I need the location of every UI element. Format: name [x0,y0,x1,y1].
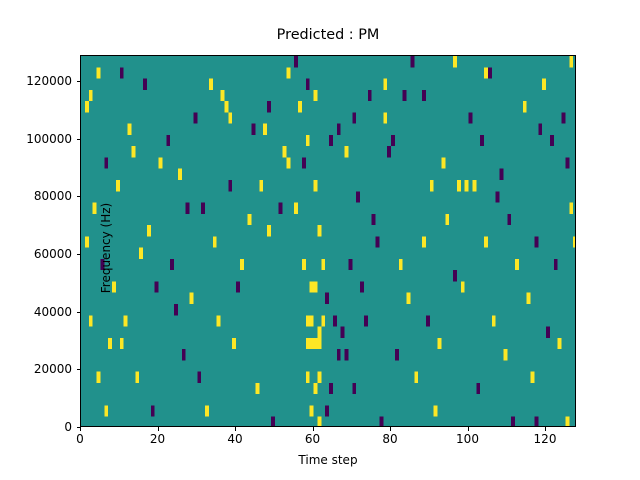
x-tick-label: 0 [76,432,84,446]
page-title: Predicted : PM [80,26,576,44]
x-tick-mark [158,427,159,431]
y-tick-label: 100000 [0,132,72,146]
matplotlib-figure: Predicted : PM 020406080100120 020000400… [0,0,640,480]
x-tick-mark [313,427,314,431]
y-tick-label: 60000 [0,247,72,261]
y-tick-mark [77,254,81,255]
y-tick-mark [77,196,81,197]
x-tick-mark [80,427,81,431]
y-tick-mark [77,139,81,140]
y-tick-label: 0 [0,420,72,434]
y-tick-label: 40000 [0,305,72,319]
heatmap-image [81,56,576,427]
y-tick-label: 120000 [0,74,72,88]
x-tick-label: 20 [150,432,165,446]
x-tick-label: 100 [456,432,479,446]
y-tick-mark [77,369,81,370]
y-tick-mark [77,427,81,428]
heatmap-axes [80,55,576,427]
y-tick-mark [77,81,81,82]
x-tick-label: 40 [227,432,242,446]
x-tick-label: 80 [382,432,397,446]
x-tick-mark [390,427,391,431]
x-tick-label: 120 [534,432,557,446]
x-axis-label: Time step [80,453,576,467]
y-axis-label: Frequency (Hz) [99,62,113,434]
y-tick-label: 20000 [0,362,72,376]
x-tick-mark [545,427,546,431]
x-tick-mark [468,427,469,431]
x-tick-label: 60 [305,432,320,446]
y-tick-mark [77,312,81,313]
x-tick-mark [235,427,236,431]
y-tick-label: 80000 [0,189,72,203]
